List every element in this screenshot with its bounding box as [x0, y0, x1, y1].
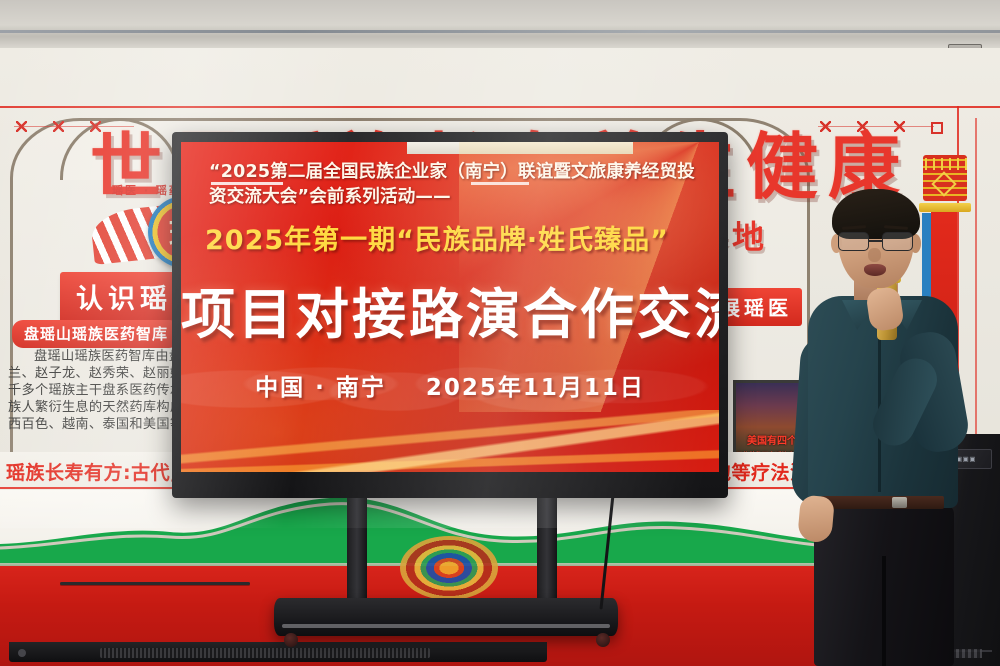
presenter-hand-left	[865, 286, 905, 332]
eyeglass-bridge	[869, 240, 882, 242]
slide-line-2: 2025年第一期“民族品牌·姓氏臻品”	[205, 218, 709, 257]
slide-location: 中国 · 南宁	[255, 375, 386, 401]
slide-gold-ribbon	[181, 410, 719, 472]
slide-main-title: 项目对接路演合作交流会	[181, 270, 719, 349]
photo-scene: 世界瑶族长寿养生健康 展基地 瑶医 · 瑶药 · 瑶 认识瑶医 盘瑶山瑶族医药智…	[0, 0, 1000, 666]
slide-underline-2	[471, 182, 529, 185]
slide-underline-1	[211, 182, 283, 185]
tv-stand-caster	[284, 633, 298, 647]
drum-head-pattern	[923, 158, 967, 170]
floor-cable	[60, 582, 250, 585]
tv-stand-base	[274, 598, 618, 636]
slide-top-strip	[407, 142, 633, 154]
tv-stand-caster	[596, 633, 610, 647]
tv-screen[interactable]: “2025第二届全国民族企业家（南宁）联谊暨文旅康养经贸投资交流大会”会前系列活…	[181, 142, 719, 472]
presenter-mouth	[864, 264, 886, 276]
tv-stand-leg-right	[537, 498, 557, 608]
presenter-belt	[820, 496, 944, 509]
slide-date: 2025年11月11日	[426, 375, 645, 401]
slide-line-1: “2025第二届全国民族企业家（南宁）联谊暨文旅康养经贸投资交流大会”会前系列活…	[209, 160, 705, 210]
presenter-belt-buckle	[892, 497, 907, 508]
presenter-nose	[868, 248, 881, 262]
tv-speaker-grill	[100, 648, 430, 658]
tv-stand-base-highlight	[282, 624, 610, 628]
tv-ir-sensor-icon	[18, 649, 26, 657]
eyeglass-lens-left	[838, 232, 869, 251]
ceiling	[0, 0, 1000, 52]
eyeglass-lens-right	[882, 232, 913, 251]
tv-stand-leg-left	[347, 498, 367, 608]
presenter	[786, 196, 976, 666]
presenter-leg-split	[882, 556, 886, 666]
ceiling-seam	[0, 30, 1000, 33]
panel-subtitle: 盘瑶山瑶族医药智库	[12, 320, 180, 348]
bronze-drum-face-icon	[400, 536, 498, 600]
slide-location-date: 中国 · 南宁 2025年11月11日	[181, 368, 719, 402]
tv-display[interactable]: “2025第二届全国民族企业家（南宁）联谊暨文旅康养经贸投资交流大会”会前系列活…	[172, 132, 728, 498]
